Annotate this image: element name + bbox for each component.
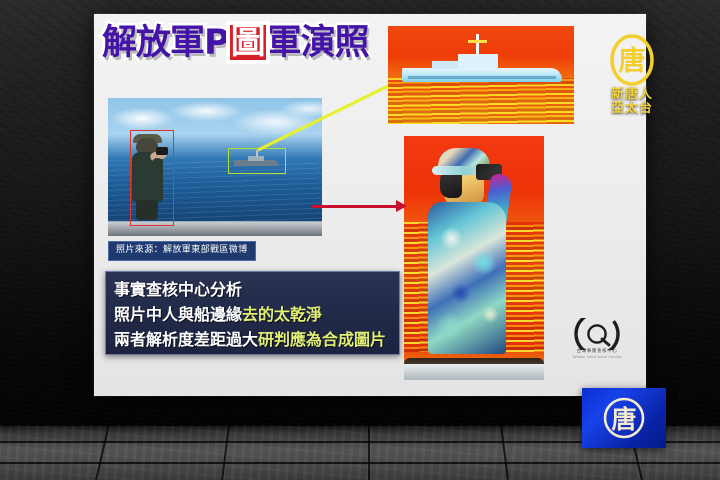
enlarged-ship-hull xyxy=(402,68,562,82)
enlarged-soldier-thermal xyxy=(404,136,544,380)
zoom-arrow-head xyxy=(396,200,407,212)
enlarged-ship-superstructure-aft xyxy=(432,61,458,69)
original-photo xyxy=(108,98,322,236)
annotation-box-ship xyxy=(228,148,286,174)
analysis-line-2-plain: 照片中人與船邊緣 xyxy=(114,305,242,324)
svg-text:唐: 唐 xyxy=(611,405,636,434)
enlarged-soldier-uniform xyxy=(428,202,506,354)
ntd-tang-logo-icon: 唐 xyxy=(596,32,668,90)
headline-boxed-char: 圖 xyxy=(230,25,266,60)
enlarged-ship-superstructure xyxy=(458,54,498,69)
page-title: 解放軍P圖軍演照 xyxy=(102,26,369,61)
factcheck-eye-icon xyxy=(566,318,628,350)
svg-text:唐: 唐 xyxy=(619,45,646,77)
analysis-caption-box: 事實查核中心分析 照片中人與船邊緣去的太乾淨 兩者解析度差距過大研判應為合成圖片 xyxy=(105,271,400,355)
thermal-sea-streaks xyxy=(388,78,574,124)
channel-watermark-label: 新唐人亞太台 xyxy=(596,88,668,116)
headline-part-1: 解放軍P xyxy=(102,26,229,61)
photo-source-label: 照片來源：解放軍東部戰區微博 xyxy=(108,241,256,261)
enlarged-ship-yardarm xyxy=(468,40,487,43)
analysis-line-2-highlight: 去的太乾淨 xyxy=(242,305,322,324)
analysis-line-3: 兩者解析度差距過大研判應為合成圖片 xyxy=(114,327,399,352)
floor-line-h3 xyxy=(0,462,720,464)
enlarged-ship-thermal xyxy=(388,26,574,124)
broadcast-screen: 照片來源：解放軍東部戰區微博 事實查核中心分析 照片中人與船邊緣去的太乾淨 兩者… xyxy=(0,0,720,480)
analysis-line-2: 照片中人與船邊緣去的太乾淨 xyxy=(114,302,399,327)
zoom-arrow-shaft xyxy=(312,205,404,208)
factcheck-name-en: Taiwan FactCheck Center xyxy=(566,355,628,359)
analysis-line-1: 事實查核中心分析 xyxy=(114,277,399,302)
headline-part-2: 軍演照 xyxy=(267,26,369,61)
analysis-line-3-highlight: 研判應為合成圖片 xyxy=(258,330,386,349)
factcheck-logo: 台灣事實查核中心 Taiwan FactCheck Center xyxy=(566,318,628,364)
channel-watermark: 唐 新唐人亞太台 xyxy=(596,32,668,124)
channel-bug: 唐 xyxy=(582,388,666,448)
enlarged-ship-deckline xyxy=(408,76,556,79)
ntd-bug-tang-icon: 唐 xyxy=(582,388,666,448)
analysis-line-1-plain: 事實查核中心分析 xyxy=(114,280,242,299)
enlarged-deck xyxy=(404,364,544,380)
annotation-box-person xyxy=(130,130,174,226)
floor-line-v3 xyxy=(368,424,370,480)
factcheck-name-zh: 台灣事實查核中心 xyxy=(566,349,628,354)
analysis-line-3-plain: 兩者解析度差距過大 xyxy=(114,330,258,349)
enlarged-ship-mast xyxy=(476,34,479,56)
